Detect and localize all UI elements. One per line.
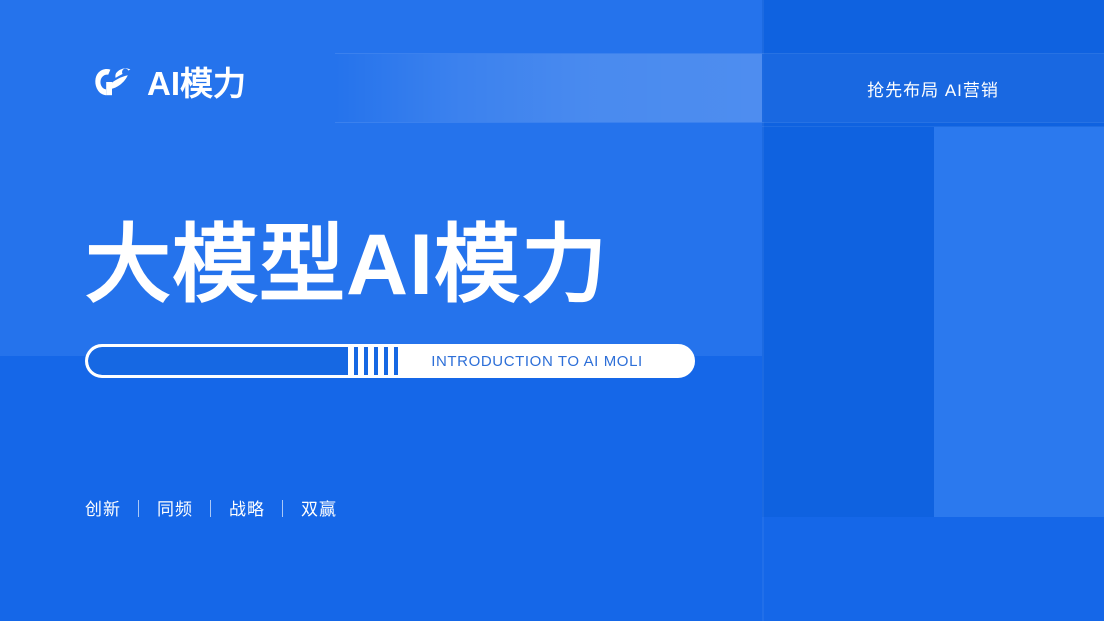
keyword-item: 创新: [85, 495, 121, 520]
background-header-band: [335, 54, 762, 122]
keyword-separator: ｜: [202, 495, 220, 520]
keyword-separator: ｜: [130, 495, 148, 520]
background-right-bottom-block: [762, 517, 1104, 621]
keyword-separator: ｜: [274, 495, 292, 520]
subtitle-progress-pill: INTRODUCTION TO AI MOLI: [85, 344, 695, 378]
keyword-item: 双赢: [301, 495, 337, 520]
pill-tick: [374, 347, 378, 375]
pill-tick-marks: [348, 347, 398, 375]
subtitle-label: INTRODUCTION TO AI MOLI: [398, 353, 692, 370]
pill-tick: [364, 347, 368, 375]
brand-logo[interactable]: AI模力: [92, 62, 246, 104]
pill-tick: [384, 347, 388, 375]
background-left-bottom-block: [0, 356, 762, 621]
keyword-item: 同频: [157, 495, 193, 520]
background-band-bottom-edge: [335, 122, 1104, 123]
ai-moli-bird-logo-icon: [92, 62, 138, 104]
keyword-item: 战略: [229, 495, 265, 520]
presentation-slide: AI模力 抢先布局 AI营销 大模型AI模力 INTRODUCTION TO A…: [0, 0, 1104, 621]
background-horizontal-seam: [762, 126, 1104, 127]
page-title: 大模型AI模力: [85, 220, 608, 310]
background-right-accent-panel: [934, 127, 1104, 517]
footer-keywords: 创新 ｜ 同频 ｜ 战略 ｜ 双赢: [85, 495, 337, 520]
pill-tick: [354, 347, 358, 375]
pill-filled-segment: [88, 347, 348, 375]
header-tagline: 抢先布局 AI营销: [762, 54, 1104, 122]
logo-wordmark: AI模力: [147, 67, 246, 100]
